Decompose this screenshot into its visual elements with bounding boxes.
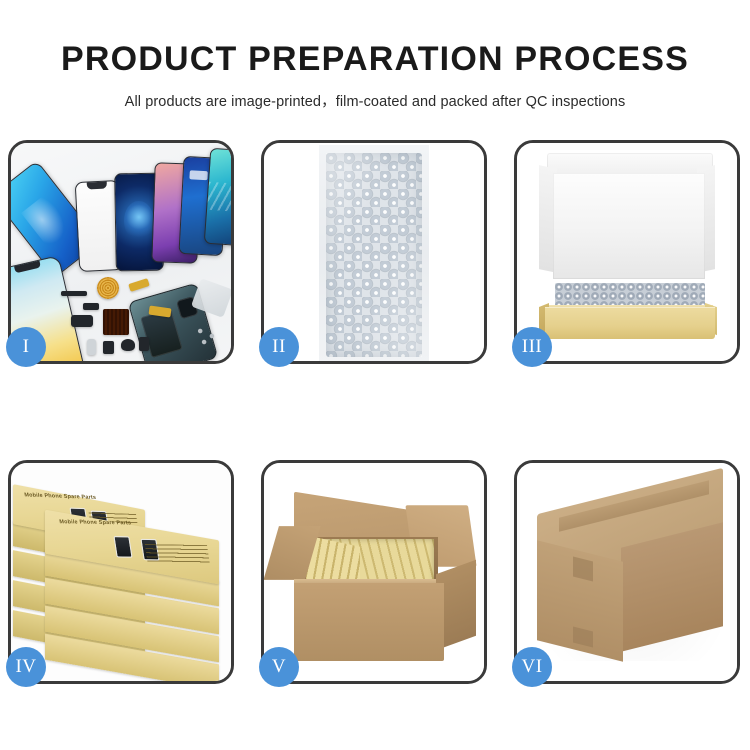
step-panel-4: Mobile Phone Spare Parts Mobile Phone Sp… — [8, 460, 234, 684]
page-subtitle: All products are image-printed，film-coat… — [0, 76, 750, 111]
step-image-1 — [11, 143, 231, 361]
step-badge-4: IV — [6, 647, 46, 687]
box-art-screen-b1 — [113, 536, 132, 558]
connector-part-3 — [139, 337, 149, 351]
step-image-2 — [264, 143, 484, 361]
inner-box-lid — [553, 173, 705, 279]
flex-cable-part-1 — [128, 278, 149, 292]
screws-part — [195, 325, 221, 345]
step-panel-5: V — [261, 460, 487, 684]
charging-coil-part — [97, 277, 119, 299]
connector-part-2 — [121, 339, 135, 351]
step-badge-2: II — [259, 327, 299, 367]
sim-tray-part — [87, 339, 96, 355]
connector-part-1 — [103, 341, 114, 354]
retail-box-stack: Mobile Phone Spare Parts Mobile Phone Sp… — [11, 463, 231, 681]
step-badge-1: I — [6, 327, 46, 367]
carton-front-panel — [294, 583, 444, 661]
product-preparation-infographic: PRODUCT PREPARATION PROCESS All products… — [0, 0, 750, 750]
camera-module-part — [71, 315, 93, 327]
step-image-6 — [517, 463, 737, 681]
step-badge-3: III — [512, 327, 552, 367]
step-panel-2: II — [261, 140, 487, 364]
step-image-4: Mobile Phone Spare Parts Mobile Phone Sp… — [11, 463, 231, 681]
retail-box-label-front: Mobile Phone Spare Parts — [59, 519, 132, 526]
bracket-part — [83, 303, 99, 310]
bubble-wrap — [326, 153, 422, 357]
inner-box-front — [545, 307, 715, 339]
step-image-5 — [264, 463, 484, 681]
step-panel-1: I — [8, 140, 234, 364]
speaker-part — [61, 291, 87, 296]
step-panel-6: VI — [514, 460, 740, 684]
step-badge-5: V — [259, 647, 299, 687]
steps-grid: I II III — [8, 140, 742, 685]
header: PRODUCT PREPARATION PROCESS All products… — [0, 0, 750, 111]
page-title: PRODUCT PREPARATION PROCESS — [0, 0, 750, 76]
step-badge-6: VI — [512, 647, 552, 687]
chip-grid-part — [103, 309, 129, 335]
retail-box-spec-lines-front — [145, 544, 210, 564]
step-panel-3: III — [514, 140, 740, 364]
retail-box-label-back: Mobile Phone Spare Parts — [24, 493, 97, 502]
step-image-3 — [517, 143, 737, 361]
